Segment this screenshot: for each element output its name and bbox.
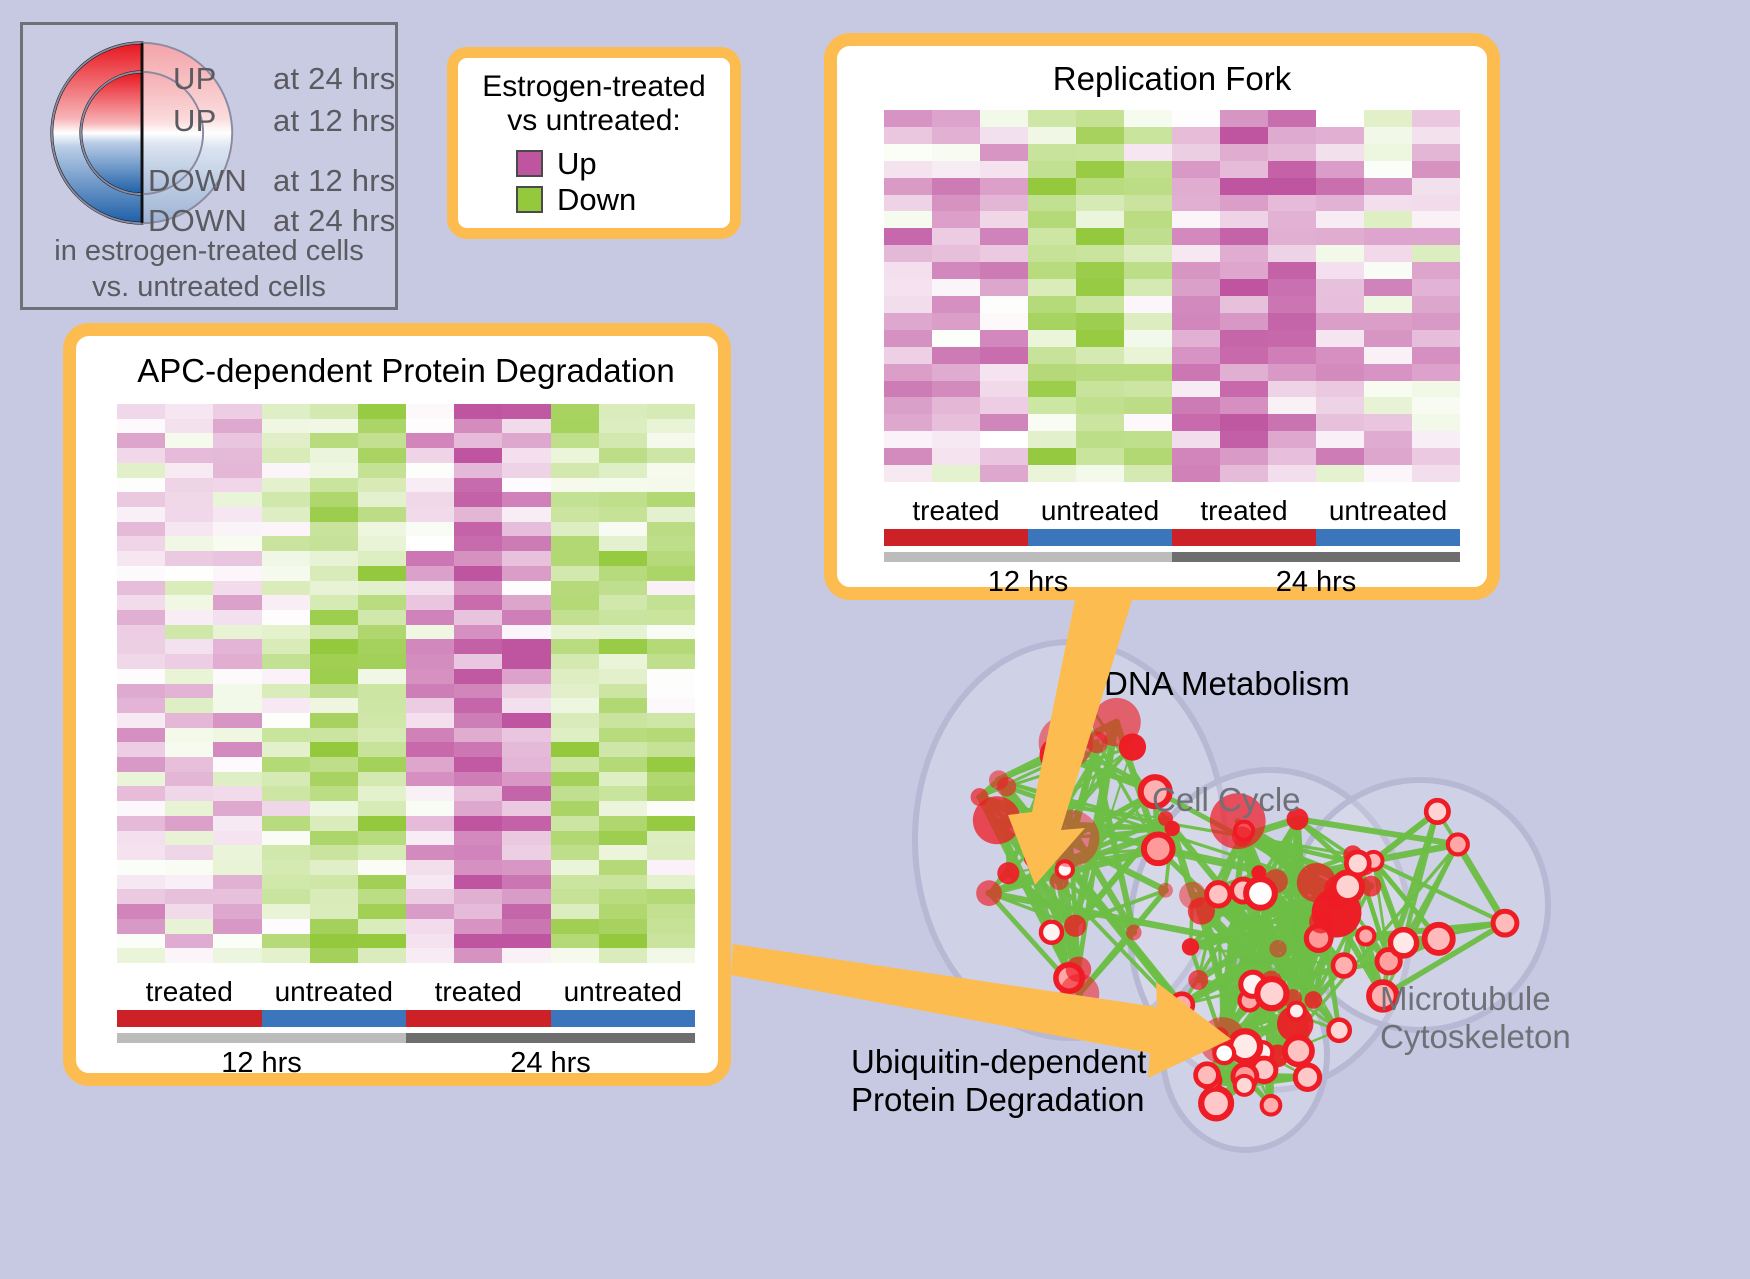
- heatmap-cell: [1124, 195, 1172, 212]
- heatmap-cell: [599, 492, 647, 507]
- heatmap-cell: [454, 639, 502, 654]
- heatmap-cell: [599, 934, 647, 949]
- heatmap-cell: [213, 860, 261, 875]
- heatmap-cell: [165, 610, 213, 625]
- heatmap-cell: [1316, 279, 1364, 296]
- group-bar-segment-0: [117, 1010, 262, 1027]
- group-labels-replication-fork: treated untreated treated untreated: [884, 495, 1460, 527]
- heatmap-cell: [1412, 296, 1460, 313]
- heatmap-cell: [213, 772, 261, 787]
- heatmap-cell: [1076, 211, 1124, 228]
- heatmap-cell: [406, 551, 454, 566]
- network-node-ring: [1295, 1065, 1319, 1089]
- heatmap-cell: [310, 772, 358, 787]
- heatmap-cell: [884, 211, 932, 228]
- heatmap-cell: [310, 860, 358, 875]
- heatmap-cell: [165, 654, 213, 669]
- heatmap-cell: [1412, 347, 1460, 364]
- heatmap-cell: [551, 639, 599, 654]
- heatmap-cell: [599, 684, 647, 699]
- heatmap-cell: [551, 507, 599, 522]
- group-color-bar-replication-fork: [884, 529, 1460, 546]
- legend-item-up: Up: [516, 146, 730, 182]
- heatmap-cell: [262, 904, 310, 919]
- group-labels-apc: treated untreated treated untreated: [117, 976, 695, 1008]
- network-node: [1092, 698, 1140, 746]
- heatmap-cell: [1316, 144, 1364, 161]
- time-bar-segment-1: [1172, 552, 1460, 562]
- heatmap-cell: [1028, 313, 1076, 330]
- heatmap-cell: [358, 448, 406, 463]
- heatmap-cell: [1076, 161, 1124, 178]
- heatmap-cell: [1364, 313, 1412, 330]
- heatmap-cell: [165, 801, 213, 816]
- group-label-untreated-24-apc: untreated: [551, 976, 696, 1008]
- heatmap-cell: [502, 948, 550, 963]
- heatmap-cell: [117, 463, 165, 478]
- heatmap-cell: [1028, 110, 1076, 127]
- heatmap-cell: [599, 801, 647, 816]
- heatmap-cell: [647, 816, 695, 831]
- heatmap-cell: [502, 595, 550, 610]
- heatmap-cell: [262, 463, 310, 478]
- heatmap-cell: [884, 465, 932, 482]
- heatmap-cell: [310, 684, 358, 699]
- heatmap-cell: [454, 433, 502, 448]
- heatmap-cell: [165, 904, 213, 919]
- heatmap-cell: [358, 698, 406, 713]
- heatmap-cell: [1412, 245, 1460, 262]
- heatmap-cell: [165, 772, 213, 787]
- heatmap-cell: [358, 948, 406, 963]
- heatmap-cell: [454, 786, 502, 801]
- heatmap-cell: [1412, 431, 1460, 448]
- heatmap-cell: [310, 610, 358, 625]
- network-node-ring: [1346, 852, 1369, 875]
- heatmap-cell: [1412, 178, 1460, 195]
- heatmap-cell: [406, 404, 454, 419]
- heatmap-cell: [165, 875, 213, 890]
- heatmap-cell: [1028, 381, 1076, 398]
- network-label-cell-cycle: Cell Cycle: [1152, 781, 1301, 819]
- heatmap-cell: [213, 889, 261, 904]
- heatmap-cell: [551, 904, 599, 919]
- heatmap-cell: [599, 919, 647, 934]
- heatmap-cell: [1076, 465, 1124, 482]
- heatmap-cell: [454, 404, 502, 419]
- network-node-ring: [1493, 911, 1517, 935]
- heatmap-cell: [165, 728, 213, 743]
- heatmap-cell: [884, 330, 932, 347]
- heatmap-cell: [1220, 397, 1268, 414]
- heatmap-cell: [502, 860, 550, 875]
- heatmap-cell: [213, 419, 261, 434]
- heatmap-cell: [599, 757, 647, 772]
- heatmap-cell: [1220, 330, 1268, 347]
- heatmap-cell: [310, 713, 358, 728]
- heatmap-cell: [980, 347, 1028, 364]
- heatmap-cell: [454, 536, 502, 551]
- heatmap-cell: [551, 595, 599, 610]
- heatmap-cell: [599, 669, 647, 684]
- group-bar-segment-1: [262, 1010, 407, 1027]
- network-node-ring: [1196, 1064, 1219, 1087]
- heatmap-cell: [599, 948, 647, 963]
- network-node: [989, 770, 1008, 789]
- heatmap-cell: [551, 919, 599, 934]
- heatmap-cell: [1220, 262, 1268, 279]
- network-node: [1309, 910, 1333, 934]
- heatmap-cell: [358, 831, 406, 846]
- heatmap-cell: [1220, 178, 1268, 195]
- heatmap-cell: [310, 845, 358, 860]
- heatmap-cell: [647, 786, 695, 801]
- heatmap-cell: [165, 889, 213, 904]
- heatmap-cell: [1028, 228, 1076, 245]
- heatmap-cell: [980, 381, 1028, 398]
- heatmap-cell: [1172, 144, 1220, 161]
- network-node-ring: [1333, 955, 1355, 977]
- heatmap-cell: [1172, 211, 1220, 228]
- heatmap-cell: [1412, 397, 1460, 414]
- heatmap-cell: [980, 110, 1028, 127]
- heatmap-cell: [358, 934, 406, 949]
- group-label-treated-12: treated: [884, 495, 1028, 527]
- heatmap-cell: [599, 419, 647, 434]
- heatmap-cell: [1268, 228, 1316, 245]
- time-color-bar-apc: [117, 1033, 695, 1043]
- heatmap-cell: [932, 397, 980, 414]
- heatmap-cell: [932, 262, 980, 279]
- network-node: [1188, 970, 1208, 990]
- network-node-ring: [1262, 1096, 1281, 1115]
- heatmap-cell: [358, 625, 406, 640]
- heatmap-cell: [599, 566, 647, 581]
- heatmap-cell: [165, 698, 213, 713]
- heatmap-cell: [1364, 330, 1412, 347]
- heatmap-cell: [310, 831, 358, 846]
- heatmap-cell: [454, 919, 502, 934]
- heatmap-cell: [310, 478, 358, 493]
- heatmap-cell: [310, 816, 358, 831]
- heatmap-cell: [1220, 364, 1268, 381]
- heatmap-cell: [310, 463, 358, 478]
- network-label-dna-metabolism: DNA Metabolism: [1104, 665, 1350, 703]
- heatmap-cell: [1268, 245, 1316, 262]
- heatmap-cell: [454, 566, 502, 581]
- heatmap-cell: [1076, 313, 1124, 330]
- heatmap-cell: [884, 228, 932, 245]
- heatmap-cell: [599, 831, 647, 846]
- heatmap-cell: [406, 433, 454, 448]
- heatmap-cell: [1364, 414, 1412, 431]
- heatmap-cell: [310, 551, 358, 566]
- heatmap-cell: [213, 581, 261, 596]
- heatmap-cell: [454, 948, 502, 963]
- heatmap-cell: [932, 381, 980, 398]
- heatmap-cell: [406, 566, 454, 581]
- heatmap-cell: [310, 581, 358, 596]
- heatmap-cell: [454, 742, 502, 757]
- network-label-microtubule: Microtubule Cytoskeleton: [1380, 980, 1571, 1055]
- heatmap-cell: [599, 404, 647, 419]
- heatmap-cell: [1220, 110, 1268, 127]
- heatmap-cell: [1028, 347, 1076, 364]
- heatmap-cell: [1412, 448, 1460, 465]
- heatmap-cell: [884, 313, 932, 330]
- heatmap-cell: [310, 889, 358, 904]
- heatmap-cell: [1364, 279, 1412, 296]
- heatmap-cell: [1268, 110, 1316, 127]
- heatmap-cell: [647, 419, 695, 434]
- heatmap-cell: [262, 536, 310, 551]
- legend-title-line2: vs untreated:: [464, 104, 724, 138]
- heatmap-cell: [213, 713, 261, 728]
- heatmap-cell: [551, 786, 599, 801]
- heatmap-cell: [454, 551, 502, 566]
- heatmap-cell: [1028, 161, 1076, 178]
- heatmap-cell: [117, 742, 165, 757]
- heatmap-cell: [165, 669, 213, 684]
- heatmap-cell: [358, 728, 406, 743]
- heatmap-cell: [502, 845, 550, 860]
- heatmap-cell: [165, 684, 213, 699]
- heatmap-cell: [1364, 381, 1412, 398]
- network-node-ring: [1257, 979, 1286, 1008]
- heatmap-cell: [1220, 448, 1268, 465]
- heatmap-cell: [406, 419, 454, 434]
- time-bar-segment-0: [884, 552, 1172, 562]
- heatmap-cell: [502, 478, 550, 493]
- heatmap-cell: [310, 786, 358, 801]
- heatmap-cell: [932, 330, 980, 347]
- network-node: [1042, 810, 1100, 868]
- heatmap-cell: [1316, 127, 1364, 144]
- heatmap-cell: [599, 860, 647, 875]
- heatmap-cell: [358, 845, 406, 860]
- heatmap-cell: [502, 742, 550, 757]
- legend-label-up: Up: [557, 148, 597, 179]
- heatmap-cell: [213, 786, 261, 801]
- color-key-box: UP at 24 hrs UP at 12 hrs DOWN at 12 hrs…: [20, 22, 398, 310]
- heatmap-cell: [1076, 397, 1124, 414]
- heatmap-cell: [1220, 127, 1268, 144]
- heatmap-cell: [1268, 296, 1316, 313]
- network-node-ring: [1285, 1037, 1312, 1064]
- heatmap-cell: [551, 742, 599, 757]
- group-label-untreated-24: untreated: [1316, 495, 1460, 527]
- heatmap-cell: [406, 904, 454, 919]
- heatmap-cell: [454, 492, 502, 507]
- heatmap-cell: [647, 492, 695, 507]
- heatmap-cell: [647, 669, 695, 684]
- heatmap-cell: [1172, 313, 1220, 330]
- heatmap-cell: [647, 831, 695, 846]
- heatmap-cell: [117, 433, 165, 448]
- heatmap-cell: [310, 919, 358, 934]
- time-color-bar-replication-fork: [884, 552, 1460, 562]
- heatmap-cell: [1316, 313, 1364, 330]
- heatmap-cell: [980, 397, 1028, 414]
- heatmap-cell: [165, 919, 213, 934]
- heatmap-cell: [551, 684, 599, 699]
- heatmap-cell: [262, 595, 310, 610]
- heatmap-cell: [1412, 414, 1460, 431]
- heatmap-cell: [1124, 110, 1172, 127]
- heatmap-cell: [213, 463, 261, 478]
- heatmap-cell: [262, 816, 310, 831]
- heatmap-cell: [454, 713, 502, 728]
- group-label-untreated-12: untreated: [1028, 495, 1172, 527]
- heatmap-cell: [647, 772, 695, 787]
- heatmap-cell: [884, 431, 932, 448]
- heatmap-cell: [213, 831, 261, 846]
- heatmap-cell: [310, 669, 358, 684]
- network-node-ring: [1426, 800, 1448, 822]
- heatmap-cell: [358, 801, 406, 816]
- heatmap-cell: [117, 478, 165, 493]
- heatmap-cell: [502, 698, 550, 713]
- heatmap-cell: [1124, 178, 1172, 195]
- heatmap-cell: [406, 757, 454, 772]
- network-node: [1158, 883, 1173, 898]
- heatmap-cell: [884, 195, 932, 212]
- heatmap-cell: [1268, 279, 1316, 296]
- heatmap-cell: [1412, 262, 1460, 279]
- heatmap-cell: [262, 669, 310, 684]
- heatmap-cell: [551, 419, 599, 434]
- panel-title-apc: APC-dependent Protein Degradation: [117, 352, 695, 390]
- heatmap-cell: [1172, 245, 1220, 262]
- heatmap-cell: [884, 397, 932, 414]
- heatmap-cell: [262, 831, 310, 846]
- legend-label-down: Down: [557, 184, 636, 215]
- heatmap-cell: [358, 654, 406, 669]
- heatmap-cell: [1124, 364, 1172, 381]
- heatmap-cell: [884, 178, 932, 195]
- heatmap-cell: [1124, 161, 1172, 178]
- heatmap-cell: [310, 404, 358, 419]
- heatmap-cell: [884, 364, 932, 381]
- heatmap-cell: [117, 728, 165, 743]
- heatmap-cell: [1364, 296, 1412, 313]
- heatmap-cell: [1076, 414, 1124, 431]
- heatmap-cell: [932, 228, 980, 245]
- heatmap-cell: [599, 654, 647, 669]
- heatmap-cell: [647, 801, 695, 816]
- heatmap-cell: [1412, 465, 1460, 482]
- heatmap-cell: [599, 448, 647, 463]
- heatmap-cell: [551, 669, 599, 684]
- heatmap-cell: [1268, 448, 1316, 465]
- heatmap-cell: [406, 772, 454, 787]
- heatmap-cell: [1028, 465, 1076, 482]
- heatmap-cell: [647, 919, 695, 934]
- heatmap-cell: [117, 669, 165, 684]
- heatmap-cell: [932, 245, 980, 262]
- heatmap-cell: [262, 478, 310, 493]
- heatmap-cell: [1268, 465, 1316, 482]
- heatmap-cell: [406, 448, 454, 463]
- legend-item-down: Down: [516, 182, 730, 218]
- panel-apc-dependent-protein-degradation: APC-dependent Protein Degradation treate…: [63, 323, 731, 1086]
- heatmap-cell: [502, 904, 550, 919]
- heatmap-cell: [1028, 414, 1076, 431]
- heatmap-cell: [117, 801, 165, 816]
- heatmap-cell: [310, 742, 358, 757]
- heatmap-cell: [884, 127, 932, 144]
- heatmap-cell: [406, 595, 454, 610]
- heatmap-cell: [599, 522, 647, 537]
- heatmap-cell: [213, 566, 261, 581]
- heatmap-cell: [551, 536, 599, 551]
- heatmap-cell: [551, 566, 599, 581]
- heatmap-cell: [406, 801, 454, 816]
- heatmap-cell: [262, 772, 310, 787]
- heatmap-cell: [454, 728, 502, 743]
- heatmap-cell: [213, 448, 261, 463]
- heatmap-cell: [884, 347, 932, 364]
- heatmap-cell: [1364, 364, 1412, 381]
- heatmap-cell: [1316, 431, 1364, 448]
- heatmap-cell: [502, 934, 550, 949]
- heatmap-cell: [117, 654, 165, 669]
- heatmap-cell: [1364, 397, 1412, 414]
- heatmap-cell: [262, 581, 310, 596]
- heatmap-cell: [647, 595, 695, 610]
- heatmap-cell: [647, 654, 695, 669]
- heatmap-cell: [884, 296, 932, 313]
- heatmap-cell: [1412, 127, 1460, 144]
- heatmap-cell: [213, 816, 261, 831]
- heatmap-cell: [1172, 381, 1220, 398]
- heatmap-cell: [647, 713, 695, 728]
- heatmap-cell: [932, 178, 980, 195]
- key-state-down-12: DOWN: [148, 163, 247, 199]
- heatmap-cell: [1076, 144, 1124, 161]
- heatmap-cell: [1412, 279, 1460, 296]
- heatmap-cell: [213, 492, 261, 507]
- heatmap-cell: [406, 860, 454, 875]
- heatmap-cell: [213, 742, 261, 757]
- network-node: [1269, 940, 1286, 957]
- heatmap-cell: [551, 845, 599, 860]
- heatmap-cell: [1076, 364, 1124, 381]
- heatmap-cell: [1172, 465, 1220, 482]
- heatmap-cell: [1028, 178, 1076, 195]
- heatmap-cell: [262, 654, 310, 669]
- heatmap-cell: [1124, 397, 1172, 414]
- heatmap-cell: [213, 507, 261, 522]
- heatmap-cell: [262, 948, 310, 963]
- heatmap-cell: [358, 669, 406, 684]
- heatmap-cell: [1124, 127, 1172, 144]
- heatmap-cell: [406, 669, 454, 684]
- heatmap-cell: [1268, 330, 1316, 347]
- heatmap-cell: [454, 934, 502, 949]
- heatmap-cell: [1028, 245, 1076, 262]
- heatmap-cell: [1220, 195, 1268, 212]
- heatmap-cell: [1364, 431, 1412, 448]
- heatmap-cell: [262, 610, 310, 625]
- heatmap-cell: [884, 110, 932, 127]
- heatmap-cell: [599, 875, 647, 890]
- heatmap-cell: [262, 639, 310, 654]
- heatmap-cell: [1172, 178, 1220, 195]
- heatmap-cell: [1412, 313, 1460, 330]
- heatmap-cell: [1124, 211, 1172, 228]
- heatmap-cell: [980, 161, 1028, 178]
